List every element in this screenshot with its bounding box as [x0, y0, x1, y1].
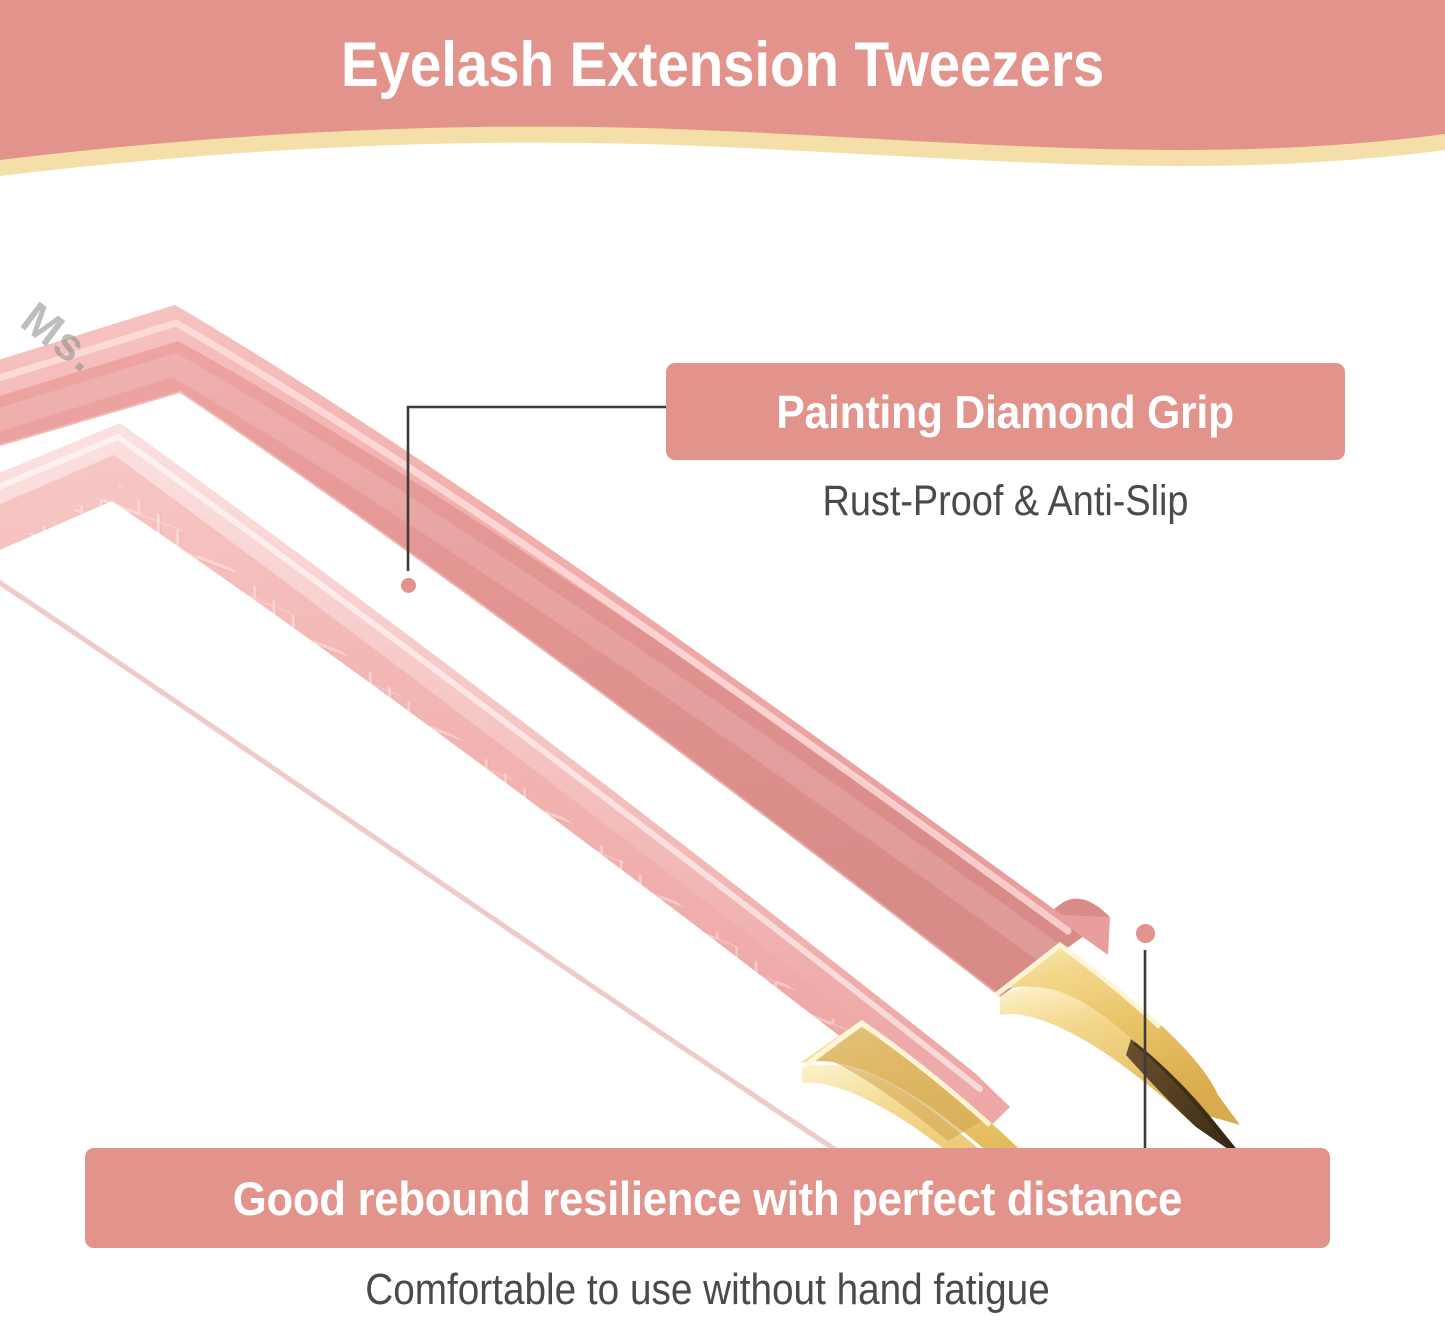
callout-label-painting-diamond-grip: Painting Diamond Grip — [777, 389, 1235, 435]
callout-subtitle-painting-diamond-grip: Rust-Proof & Anti-Slip — [707, 480, 1305, 523]
product-photo-tweezers: Ms. — [0, 155, 1445, 1185]
infographic-canvas: Ms. Eyelash Extension Tweezers Painting … — [0, 0, 1445, 1328]
callout-marker-dot-icon-grip[interactable] — [394, 571, 423, 600]
callout-box-good-rebound-resilience: Good rebound resilience with perfect dis… — [85, 1148, 1330, 1248]
callout-label-good-rebound-resilience: Good rebound resilience with perfect dis… — [233, 1175, 1182, 1222]
callout-marker-dot-icon-tip[interactable] — [1129, 917, 1162, 950]
tweezer-upper-gold-tip — [995, 943, 1248, 1163]
header-banner — [0, 0, 1445, 200]
callout-subtitle-good-rebound-resilience: Comfortable to use without hand fatigue — [160, 1268, 1256, 1312]
callout-box-painting-diamond-grip: Painting Diamond Grip — [666, 363, 1345, 460]
